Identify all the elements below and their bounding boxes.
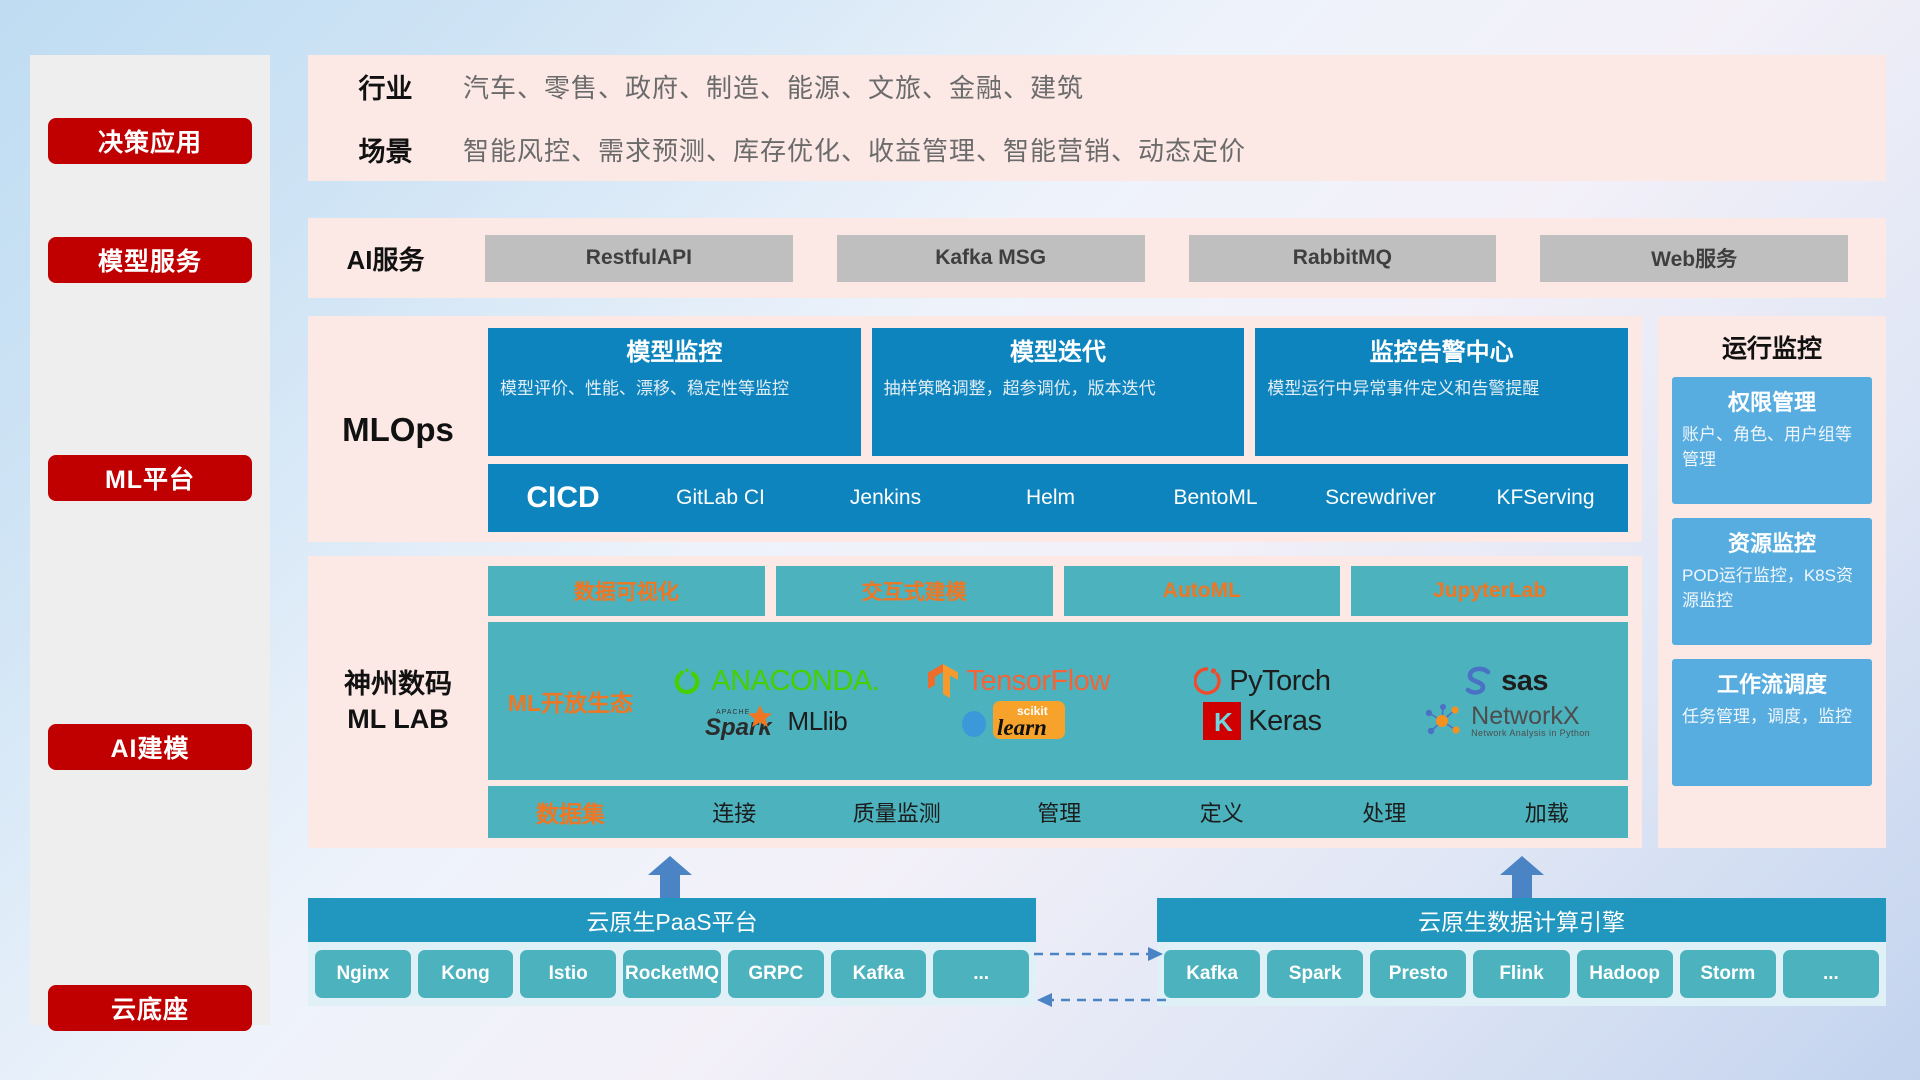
cloud-data-engine-block: 云原生数据计算引擎 Kafka Spark Presto Flink Hadoo… (1157, 898, 1886, 1006)
rail-label: AI建模 (110, 729, 189, 765)
ecosystem-logo-grid: ANACONDA. TensorFlow PyTorch (653, 661, 1628, 741)
chip-presto[interactable]: Presto (1370, 950, 1466, 998)
service-item-kafka-msg[interactable]: Kafka MSG (837, 235, 1145, 282)
logo-label: NetworkX (1471, 704, 1590, 729)
mllab-label-line1: 神州数码 (344, 667, 452, 702)
dataset-item-process[interactable]: 处理 (1303, 796, 1466, 828)
cicd-item-gitlab-ci[interactable]: GitLab CI (638, 484, 803, 512)
chip-kong[interactable]: Kong (418, 950, 514, 998)
scikit-learn-wordmark-icon: scikit learn (991, 701, 1077, 741)
card-title: 模型监控 (500, 337, 849, 369)
logo-networkx[interactable]: NetworkX Network Analysis in Python (1384, 702, 1628, 740)
service-item-web[interactable]: Web服务 (1540, 235, 1848, 282)
rail-label: 云底座 (111, 990, 189, 1026)
rail-item-ai-modeling[interactable]: AI建模 (48, 724, 252, 770)
mllab-tab-list: 数据可视化 交互式建模 AutoML JupyterLab (488, 566, 1628, 616)
logo-tensorflow[interactable]: TensorFlow (897, 663, 1141, 699)
monitor-panel-title: 运行监控 (1672, 329, 1872, 365)
bidirectional-connector-icon (1030, 938, 1170, 1018)
card-title: 资源监控 (1682, 526, 1862, 558)
chip-nginx[interactable]: Nginx (315, 950, 411, 998)
scenario-row: 场景 智能风控、需求预测、库存优化、收益管理、智能营销、动态定价 (308, 118, 1886, 181)
logo-label: sas (1501, 665, 1548, 698)
logo-pytorch[interactable]: PyTorch (1141, 664, 1385, 698)
scenario-label: 场景 (308, 130, 463, 169)
service-label: RestfulAPI (586, 246, 692, 270)
sas-icon (1464, 665, 1494, 697)
cicd-item-kfserving[interactable]: KFServing (1463, 484, 1628, 512)
chip-more[interactable]: ... (1783, 950, 1879, 998)
up-arrow-data-engine-icon (1500, 856, 1544, 898)
tab-data-visualization[interactable]: 数据可视化 (488, 566, 765, 616)
cicd-item-jenkins[interactable]: Jenkins (803, 484, 968, 512)
chip-kafka[interactable]: Kafka (1164, 950, 1260, 998)
up-arrow-paas-icon (648, 856, 692, 898)
dataset-item-define[interactable]: 定义 (1141, 796, 1304, 828)
chip-spark[interactable]: Spark (1267, 950, 1363, 998)
ecosystem-label: ML开放生态 (488, 684, 653, 718)
mllab-label: 神州数码 ML LAB (308, 566, 488, 838)
card-desc: 账户、角色、用户组等管理 (1682, 423, 1862, 472)
cicd-item-helm[interactable]: Helm (968, 484, 1133, 512)
cloud-data-engine-title: 云原生数据计算引擎 (1157, 898, 1886, 942)
chip-flink[interactable]: Flink (1473, 950, 1569, 998)
rail-item-decision-app[interactable]: 决策应用 (48, 118, 252, 164)
chip-rocketmq[interactable]: RocketMQ (623, 950, 721, 998)
logo-label: MLlib (788, 706, 848, 737)
networkx-tagline: Network Analysis in Python (1471, 729, 1590, 738)
mlops-card-list: 模型监控 模型评价、性能、漂移、稳定性等监控 模型迭代 抽样策略调整，超参调优，… (488, 328, 1628, 456)
cloud-paas-chip-list: Nginx Kong Istio RocketMQ GRPC Kafka ... (308, 942, 1036, 1006)
chip-more[interactable]: ... (933, 950, 1029, 998)
service-label: Web服务 (1651, 243, 1737, 273)
monitor-card-workflow[interactable]: 工作流调度 任务管理，调度，监控 (1672, 659, 1872, 786)
monitor-card-permission[interactable]: 权限管理 账户、角色、用户组等管理 (1672, 377, 1872, 504)
dataset-item-quality-monitor[interactable]: 质量监测 (816, 796, 979, 828)
keras-icon: K (1203, 702, 1241, 740)
mllab-label-line2: ML LAB (347, 702, 449, 737)
mllab-content: 数据可视化 交互式建模 AutoML JupyterLab ML开放生态 ANA… (488, 566, 1628, 838)
card-desc: 模型运行中异常事件定义和告警提醒 (1267, 376, 1616, 402)
dataset-item-connect[interactable]: 连接 (653, 796, 816, 828)
ml-ecosystem-row: ML开放生态 ANACONDA. TensorFlow (488, 622, 1628, 780)
dataset-item-list: 连接 质量监测 管理 定义 处理 加载 (653, 796, 1628, 828)
monitor-panel: 运行监控 权限管理 账户、角色、用户组等管理 资源监控 POD运行监控，K8S资… (1658, 316, 1886, 848)
mlops-layer-band: MLOps 模型监控 模型评价、性能、漂移、稳定性等监控 模型迭代 抽样策略调整… (308, 316, 1642, 542)
dataset-item-manage[interactable]: 管理 (978, 796, 1141, 828)
service-label: Kafka MSG (935, 246, 1046, 270)
dataset-label: 数据集 (488, 795, 653, 829)
mllab-layer-band: 神州数码 ML LAB 数据可视化 交互式建模 AutoML JupyterLa… (308, 556, 1642, 848)
monitor-card-resource[interactable]: 资源监控 POD运行监控，K8S资源监控 (1672, 518, 1872, 645)
mlops-card-model-iteration[interactable]: 模型迭代 抽样策略调整，超参调优，版本迭代 (872, 328, 1245, 456)
logo-label: ANACONDA. (711, 665, 879, 698)
service-item-restfulapi[interactable]: RestfulAPI (485, 235, 793, 282)
rail-item-ml-platform[interactable]: ML平台 (48, 455, 252, 501)
ai-service-label: AI服务 (308, 240, 463, 277)
industry-value: 汽车、零售、政府、制造、能源、文旅、金融、建筑 (463, 68, 1084, 105)
chip-kafka[interactable]: Kafka (831, 950, 927, 998)
service-layer-band: AI服务 RestfulAPI Kafka MSG RabbitMQ Web服务 (308, 218, 1886, 298)
svg-text:learn: learn (997, 715, 1047, 740)
rail-label: 决策应用 (98, 123, 202, 159)
logo-keras[interactable]: K Keras (1141, 702, 1385, 740)
networkx-icon (1422, 702, 1464, 740)
mlops-content: 模型监控 模型评价、性能、漂移、稳定性等监控 模型迭代 抽样策略调整，超参调优，… (488, 328, 1628, 532)
tab-automl[interactable]: AutoML (1064, 566, 1341, 616)
mlops-label: MLOps (308, 328, 488, 532)
card-desc: 抽样策略调整，超参调优，版本迭代 (884, 376, 1233, 402)
chip-storm[interactable]: Storm (1680, 950, 1776, 998)
dataset-row: 数据集 连接 质量监测 管理 定义 处理 加载 (488, 786, 1628, 838)
scenario-value: 智能风控、需求预测、库存优化、收益管理、智能营销、动态定价 (463, 131, 1246, 168)
service-list: RestfulAPI Kafka MSG RabbitMQ Web服务 (463, 235, 1886, 282)
card-desc: 任务管理，调度，监控 (1682, 705, 1862, 730)
logo-label: PyTorch (1229, 665, 1330, 698)
application-layer-band: 行业 汽车、零售、政府、制造、能源、文旅、金融、建筑 场景 智能风控、需求预测、… (308, 55, 1886, 181)
rail-label: 模型服务 (98, 242, 202, 278)
mlops-card-model-monitoring[interactable]: 模型监控 模型评价、性能、漂移、稳定性等监控 (488, 328, 861, 456)
logo-label: TensorFlow (966, 665, 1109, 698)
logo-label: Keras (1248, 705, 1321, 738)
cicd-item-screwdriver[interactable]: Screwdriver (1298, 484, 1463, 512)
cloud-paas-block: 云原生PaaS平台 Nginx Kong Istio RocketMQ GRPC… (308, 898, 1036, 1006)
industry-row: 行业 汽车、零售、政府、制造、能源、文旅、金融、建筑 (308, 55, 1886, 118)
rail-item-model-service[interactable]: 模型服务 (48, 237, 252, 283)
card-desc: 模型评价、性能、漂移、稳定性等监控 (500, 376, 849, 402)
cloud-paas-title: 云原生PaaS平台 (308, 898, 1036, 942)
chip-hadoop[interactable]: Hadoop (1577, 950, 1673, 998)
cicd-title: CICD (488, 481, 638, 515)
logo-scikit-learn[interactable]: scikit learn (897, 701, 1141, 741)
card-title: 监控告警中心 (1267, 337, 1616, 369)
dataset-item-load[interactable]: 加载 (1466, 796, 1629, 828)
pytorch-icon (1194, 664, 1222, 698)
svg-text:K: K (1214, 707, 1233, 737)
card-title: 模型迭代 (884, 337, 1233, 369)
chip-grpc[interactable]: GRPC (728, 950, 824, 998)
industry-label: 行业 (308, 67, 463, 106)
rail-label: ML平台 (105, 460, 195, 496)
logo-sas[interactable]: sas (1384, 665, 1628, 698)
rail-item-cloud-base[interactable]: 云底座 (48, 985, 252, 1031)
left-rail: 决策应用 模型服务 ML平台 AI建模 云底座 (30, 55, 270, 1025)
logo-spark-mllib[interactable]: APACHE Spark MLlib (653, 701, 897, 741)
tab-interactive-modeling[interactable]: 交互式建模 (776, 566, 1053, 616)
tensorflow-icon (927, 663, 959, 699)
service-item-rabbitmq[interactable]: RabbitMQ (1189, 235, 1497, 282)
logo-anaconda[interactable]: ANACONDA. (653, 664, 897, 698)
chip-istio[interactable]: Istio (520, 950, 616, 998)
card-title: 权限管理 (1682, 385, 1862, 417)
card-desc: POD运行监控，K8S资源监控 (1682, 564, 1862, 613)
spark-icon: APACHE Spark (703, 701, 781, 741)
card-title: 工作流调度 (1682, 667, 1862, 699)
service-label: RabbitMQ (1293, 246, 1392, 270)
anaconda-icon (670, 664, 704, 698)
cicd-item-list: GitLab CI Jenkins Helm BentoML Screwdriv… (638, 484, 1628, 512)
tab-jupyterlab[interactable]: JupyterLab (1351, 566, 1628, 616)
mlops-card-alert-center[interactable]: 监控告警中心 模型运行中异常事件定义和告警提醒 (1255, 328, 1628, 456)
cicd-row: CICD GitLab CI Jenkins Helm BentoML Scre… (488, 464, 1628, 532)
cicd-item-bentoml[interactable]: BentoML (1133, 484, 1298, 512)
cloud-data-engine-chip-list: Kafka Spark Presto Flink Hadoop Storm ..… (1157, 942, 1886, 1006)
